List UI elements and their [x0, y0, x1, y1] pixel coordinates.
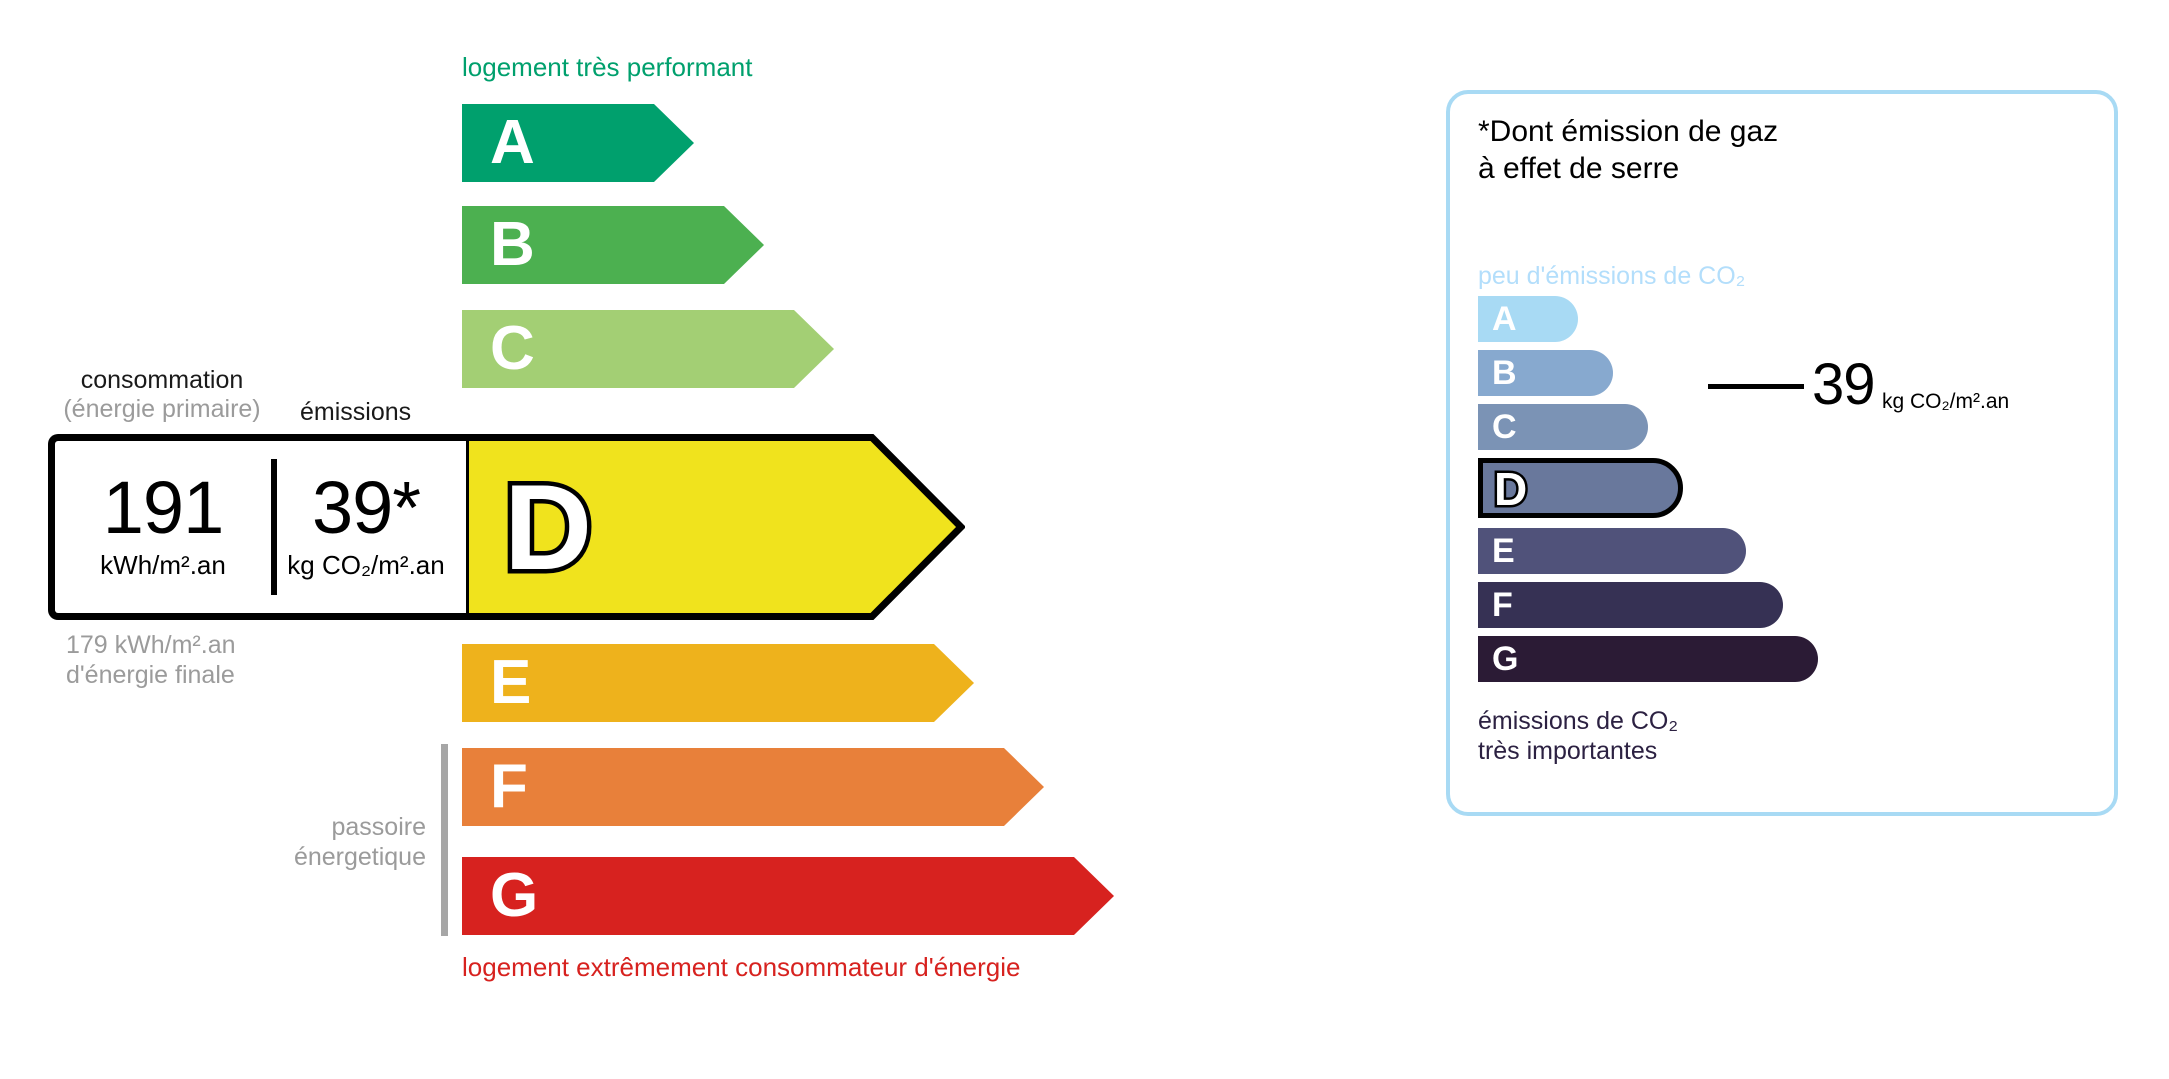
final-energy-note: 179 kWh/m².an d'énergie finale	[66, 630, 236, 690]
dpe-arrow-e-shape	[462, 644, 974, 722]
ghg-title-line1: *Dont émission de gaz	[1478, 114, 1778, 151]
ghg-title-line2: à effet de serre	[1478, 151, 1778, 188]
consumption-value-cell: 191 kWh/m².an	[55, 441, 271, 613]
consumption-label-sub: (énergie primaire)	[62, 395, 262, 424]
ghg-title: *Dont émission de gaz à effet de serre	[1478, 114, 1778, 187]
consumption-label: consommation (énergie primaire)	[62, 366, 262, 424]
ghg-class-letter-c: C	[1492, 410, 1517, 444]
ghg-bottom-caption-line1: émissions de CO₂	[1478, 706, 1678, 736]
dpe-arrow-g-shape	[462, 857, 1114, 935]
dpe-arrow-f-shape	[462, 748, 1044, 826]
dpe-bottom-caption: logement extrêmement consommateur d'éner…	[462, 952, 1020, 983]
ghg-class-letter-e: E	[1492, 534, 1515, 568]
emissions-value-cell: 39* kg CO₂/m².an	[271, 441, 461, 613]
ghg-panel: *Dont émission de gaz à effet de serre p…	[1446, 90, 2118, 816]
ghg-class-letter-d: D	[1494, 463, 1527, 515]
ghg-bottom-caption-line2: très importantes	[1478, 736, 1678, 766]
dpe-class-row-a[interactable]: A	[462, 104, 694, 182]
emissions-value-unit: kg CO₂/m².an	[287, 550, 444, 581]
ghg-class-letter-d-wrap: D	[1478, 458, 1683, 518]
dpe-class-row-b[interactable]: B	[462, 206, 764, 284]
dpe-class-letter-d: D	[504, 459, 592, 595]
ghg-class-letter-a: A	[1492, 302, 1517, 336]
dpe-class-row-e[interactable]: E	[462, 644, 974, 722]
dpe-class-letter-g: G	[490, 865, 538, 927]
dpe-class-letter-e: E	[490, 652, 531, 714]
dpe-class-row-f[interactable]: F	[462, 748, 1044, 826]
ghg-bar-f	[1478, 582, 1783, 628]
ghg-leader-line	[1708, 384, 1804, 389]
ghg-class-letter-b: B	[1492, 356, 1517, 390]
ghg-value-unit: kg CO₂/m².an	[1882, 390, 2009, 414]
dpe-arrow-e: E	[462, 644, 974, 722]
emissions-label: émissions	[300, 398, 411, 427]
final-energy-line2: d'énergie finale	[66, 660, 236, 690]
dpe-arrow-a: A	[462, 104, 694, 182]
dpe-class-row-c[interactable]: C	[462, 310, 834, 388]
dpe-class-row-d-current[interactable]: D 191 kWh/m².an 39* kg CO₂/m².an	[48, 434, 965, 620]
final-energy-line1: 179 kWh/m².an	[66, 630, 236, 660]
passoire-line1: passoire	[230, 812, 426, 842]
passoire-line2: énergetique	[230, 842, 426, 872]
dpe-arrow-d-shape: D	[462, 434, 965, 620]
dpe-arrow-b: B	[462, 206, 764, 284]
dpe-energy-panel: logement très performant A B C consommat…	[0, 0, 1420, 1079]
passoire-bracket	[441, 744, 448, 936]
dpe-arrow-g: G	[462, 857, 1114, 935]
consumption-label-main: consommation	[81, 366, 244, 394]
consumption-value: 191	[103, 473, 223, 543]
dpe-class-letter-c: C	[490, 318, 535, 380]
dpe-class-letter-b: B	[490, 214, 535, 276]
dpe-value-box: 191 kWh/m².an 39* kg CO₂/m².an	[48, 434, 466, 620]
dpe-arrow-f: F	[462, 748, 1044, 826]
ghg-bottom-caption: émissions de CO₂ très importantes	[1478, 706, 1678, 766]
ghg-class-letter-g: G	[1492, 642, 1518, 676]
dpe-top-caption: logement très performant	[462, 52, 752, 83]
ghg-bar-e	[1478, 528, 1746, 574]
emissions-value: 39*	[312, 473, 420, 543]
ghg-top-caption: peu d'émissions de CO₂	[1478, 262, 1745, 291]
dpe-class-letter-a: A	[490, 112, 535, 174]
ghg-class-letter-f: F	[1492, 588, 1513, 622]
ghg-value: 39	[1812, 356, 1875, 414]
dpe-arrow-d: D	[462, 434, 965, 625]
consumption-value-unit: kWh/m².an	[100, 550, 226, 581]
passoire-label: passoire énergetique	[230, 812, 426, 872]
ghg-bar-g	[1478, 636, 1818, 682]
dpe-class-row-g[interactable]: G	[462, 857, 1114, 935]
dpe-arrow-c: C	[462, 310, 834, 388]
dpe-class-letter-f: F	[490, 756, 528, 818]
